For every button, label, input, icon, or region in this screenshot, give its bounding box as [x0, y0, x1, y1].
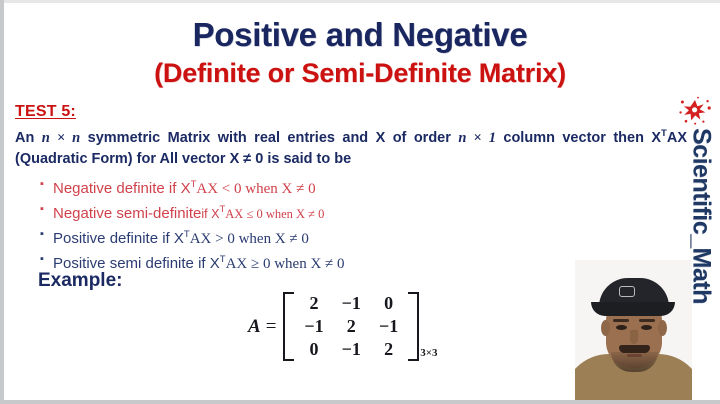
presenter-nose	[630, 330, 638, 344]
bullet-label: Negative semi-definite	[53, 205, 201, 222]
matrix-equals-sign: =	[266, 316, 277, 338]
matrix-grid: 2 −1 0 −1 2 −1 0 −1 2	[295, 292, 407, 361]
matrix-cell: 2	[370, 338, 407, 361]
slide-subtitle: (Definite or Semi-Definite Matrix)	[0, 58, 720, 89]
statement-dim-nxn: n × n	[42, 130, 80, 146]
bullet-text: Negative definite if XTAX < 0 when X ≠ 0	[53, 175, 316, 199]
matrix-cell: −1	[333, 292, 370, 315]
presenter-eye-left	[616, 325, 627, 330]
matrix-order-subscript: 3×3	[420, 347, 437, 361]
matrix-cell: 2	[333, 315, 370, 338]
brand-name: Scientific_Math	[687, 128, 716, 304]
table-row: 0 −1 2	[295, 338, 407, 361]
slide-title: Positive and Negative	[0, 16, 720, 54]
brand-watermark: Scientific_Math	[684, 128, 718, 360]
presenter-cap-logo-icon	[619, 286, 635, 297]
bullet-condition: AX ≥ 0 when X ≠ 0	[226, 256, 345, 272]
statement-part-2: symmetric Matrix with real entries and X…	[80, 130, 458, 146]
presenter-cap-brim	[591, 302, 675, 316]
bullet-label: Negative definite if X	[53, 180, 191, 197]
slide-left-border	[0, 0, 4, 404]
example-label: Example:	[38, 270, 122, 292]
statement-part-3: column vector then X	[496, 130, 661, 146]
definition-statement: An n × n symmetric Matrix with real entr…	[15, 123, 687, 170]
slide-canvas: Positive and Negative (Definite or Semi-…	[0, 0, 720, 404]
test-label: TEST 5:	[15, 103, 76, 121]
bullet-condition: AX < 0 when X ≠ 0	[196, 181, 315, 197]
bullet-text: Negative semi-definiteif XTAX ≤ 0 when X…	[53, 200, 324, 224]
bullet-marker-icon: ▪	[40, 175, 53, 194]
bullet-condition: AX > 0 when X ≠ 0	[190, 231, 309, 247]
matrix-cell: 0	[370, 292, 407, 315]
list-item: ▪ Negative semi-definiteif XTAX ≤ 0 when…	[40, 200, 510, 224]
matrix-name: A	[248, 316, 261, 338]
slide-bottom-border	[0, 400, 720, 404]
presenter-mustache	[619, 345, 650, 353]
matrix-cell: 0	[295, 338, 332, 361]
matrix-cell: −1	[295, 315, 332, 338]
bullet-marker-icon: ▪	[40, 225, 53, 244]
bullet-marker-icon: ▪	[40, 250, 53, 269]
matrix-cell: −1	[370, 315, 407, 338]
presenter-mouth	[627, 354, 642, 357]
presenter-webcam	[575, 260, 692, 400]
matrix-right-bracket	[408, 292, 419, 361]
presenter-eye-right	[641, 325, 652, 330]
table-row: −1 2 −1	[295, 315, 407, 338]
ink-splat-logo-icon	[678, 96, 712, 126]
example-matrix: A = 2 −1 0 −1 2 −1 0 −1 2 3×3	[248, 292, 437, 361]
list-item: ▪ Positive definite if XTAX > 0 when X ≠…	[40, 225, 510, 249]
bullet-label: Positive definite if X	[53, 230, 184, 247]
matrix-cell: 2	[295, 292, 332, 315]
list-item: ▪ Negative definite if XTAX < 0 when X ≠…	[40, 175, 510, 199]
presenter-ear-right	[658, 320, 667, 336]
bullet-condition-prefix: if X	[201, 207, 219, 221]
presenter-eyebrow-right	[639, 319, 655, 322]
matrix-cell: −1	[333, 338, 370, 361]
slide-top-border	[0, 0, 720, 3]
bullet-condition: AX ≤ 0 when X ≠ 0	[225, 207, 324, 221]
matrix-left-bracket	[283, 292, 294, 361]
table-row: 2 −1 0	[295, 292, 407, 315]
bullet-marker-icon: ▪	[40, 200, 53, 219]
presenter-eyebrow-left	[613, 319, 629, 322]
presenter-ear-left	[601, 320, 610, 336]
bullet-text: Positive definite if XTAX > 0 when X ≠ 0	[53, 225, 309, 249]
statement-dim-nx1: n × 1	[458, 130, 496, 146]
statement-part-1: An	[15, 130, 42, 146]
definition-bullet-list: ▪ Negative definite if XTAX < 0 when X ≠…	[40, 175, 510, 275]
